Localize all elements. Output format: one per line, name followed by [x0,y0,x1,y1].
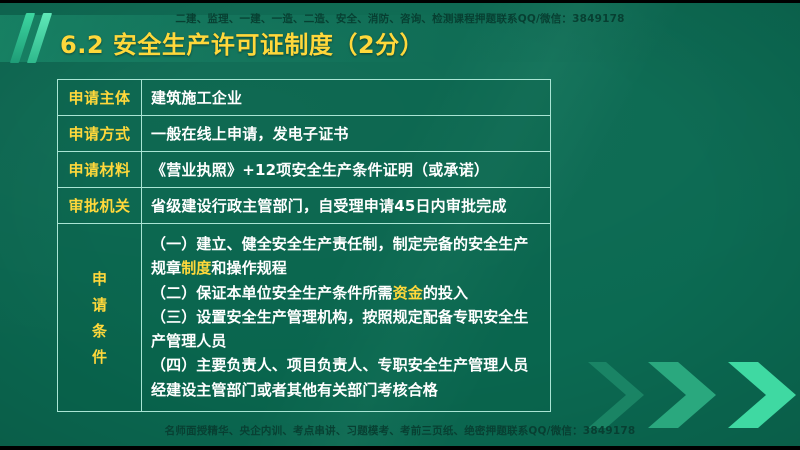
letterbox-bar-bottom [0,446,800,450]
row-value-conditions: （一）建立、健全安全生产责任制，制定完备的安全生产规章制度和操作规程 （二）保证… [142,224,551,412]
chevron-1 [588,362,644,428]
row-value-method: 一般在线上申请，发电子证书 [142,116,551,152]
row-label-materials: 申请材料 [58,152,142,188]
row-label-conditions: 申 请 条 件 [58,224,142,412]
row-value-materials: 《营业执照》+12项安全生产条件证明（或承诺） [142,152,551,188]
table-row: 审批机关 省级建设行政主管部门，自受理申请45日内审批完成 [58,188,551,224]
table-row-conditions: 申 请 条 件 （一）建立、健全安全生产责任制，制定完备的安全生产规章制度和操作… [58,224,551,412]
condition-item-4: （四）主要负责人、项目负责人、专职安全生产管理人员经建设主管部门或者其他有关部门… [151,353,542,402]
row-label-method: 申请方式 [58,116,142,152]
condition-text: （四）主要负责人、项目负责人、专职安全生产管理人员经建设主管部门或者其他有关部门… [151,356,529,398]
vertical-label-char: 申 [61,266,138,292]
table-row: 申请材料 《营业执照》+12项安全生产条件证明（或承诺） [58,152,551,188]
slide-canvas: 二建、监理、一建、一造、二造、安全、消防、咨询、检测课程押题联系QQ/微信：38… [0,0,800,450]
condition-highlight: 资金 [393,284,423,302]
condition-highlight: 制度 [181,259,211,277]
condition-text: （二）保证本单位安全生产条件所需 [151,284,393,302]
vertical-label-stack: 申 请 条 件 [61,266,138,370]
row-label-authority: 审批机关 [58,188,142,224]
requirements-table: 申请主体 建筑施工企业 申请方式 一般在线上申请，发电子证书 申请材料 《营业执… [57,79,551,412]
letterbox-bar-top [0,0,800,3]
vertical-label-char: 请 [61,292,138,318]
row-value-authority: 省级建设行政主管部门，自受理申请45日内审批完成 [142,188,551,224]
row-value-applicant: 建筑施工企业 [142,80,551,116]
page-title: 6.2 安全生产许可证制度（2分） [60,25,424,60]
table-row: 申请主体 建筑施工企业 [58,80,551,116]
chevron-2 [648,362,716,428]
condition-item-1: （一）建立、健全安全生产责任制，制定完备的安全生产规章制度和操作规程 [151,232,542,281]
condition-text: 的投入 [423,284,468,302]
table-body: 申请主体 建筑施工企业 申请方式 一般在线上申请，发电子证书 申请材料 《营业执… [58,80,551,412]
promo-banner-top: 二建、监理、一建、一造、二造、安全、消防、咨询、检测课程押题联系QQ/微信：38… [0,11,800,26]
condition-text: 和操作规程 [211,259,287,277]
vertical-label-char: 件 [61,344,138,370]
table-row: 申请方式 一般在线上申请，发电子证书 [58,116,551,152]
condition-item-2: （二）保证本单位安全生产条件所需资金的投入 [151,281,542,305]
condition-item-3: （三）设置安全生产管理机构，按照规定配备专职安全生产管理人员 [151,305,542,354]
condition-text: （三）设置安全生产管理机构，按照规定配备专职安全生产管理人员 [151,308,529,350]
chevron-3 [728,362,796,428]
promo-banner-bottom: 名师面授精华、央企内训、考点串讲、习题模考、考前三页纸、绝密押题联系QQ/微信：… [0,423,800,438]
row-label-applicant: 申请主体 [58,80,142,116]
vertical-label-char: 条 [61,318,138,344]
